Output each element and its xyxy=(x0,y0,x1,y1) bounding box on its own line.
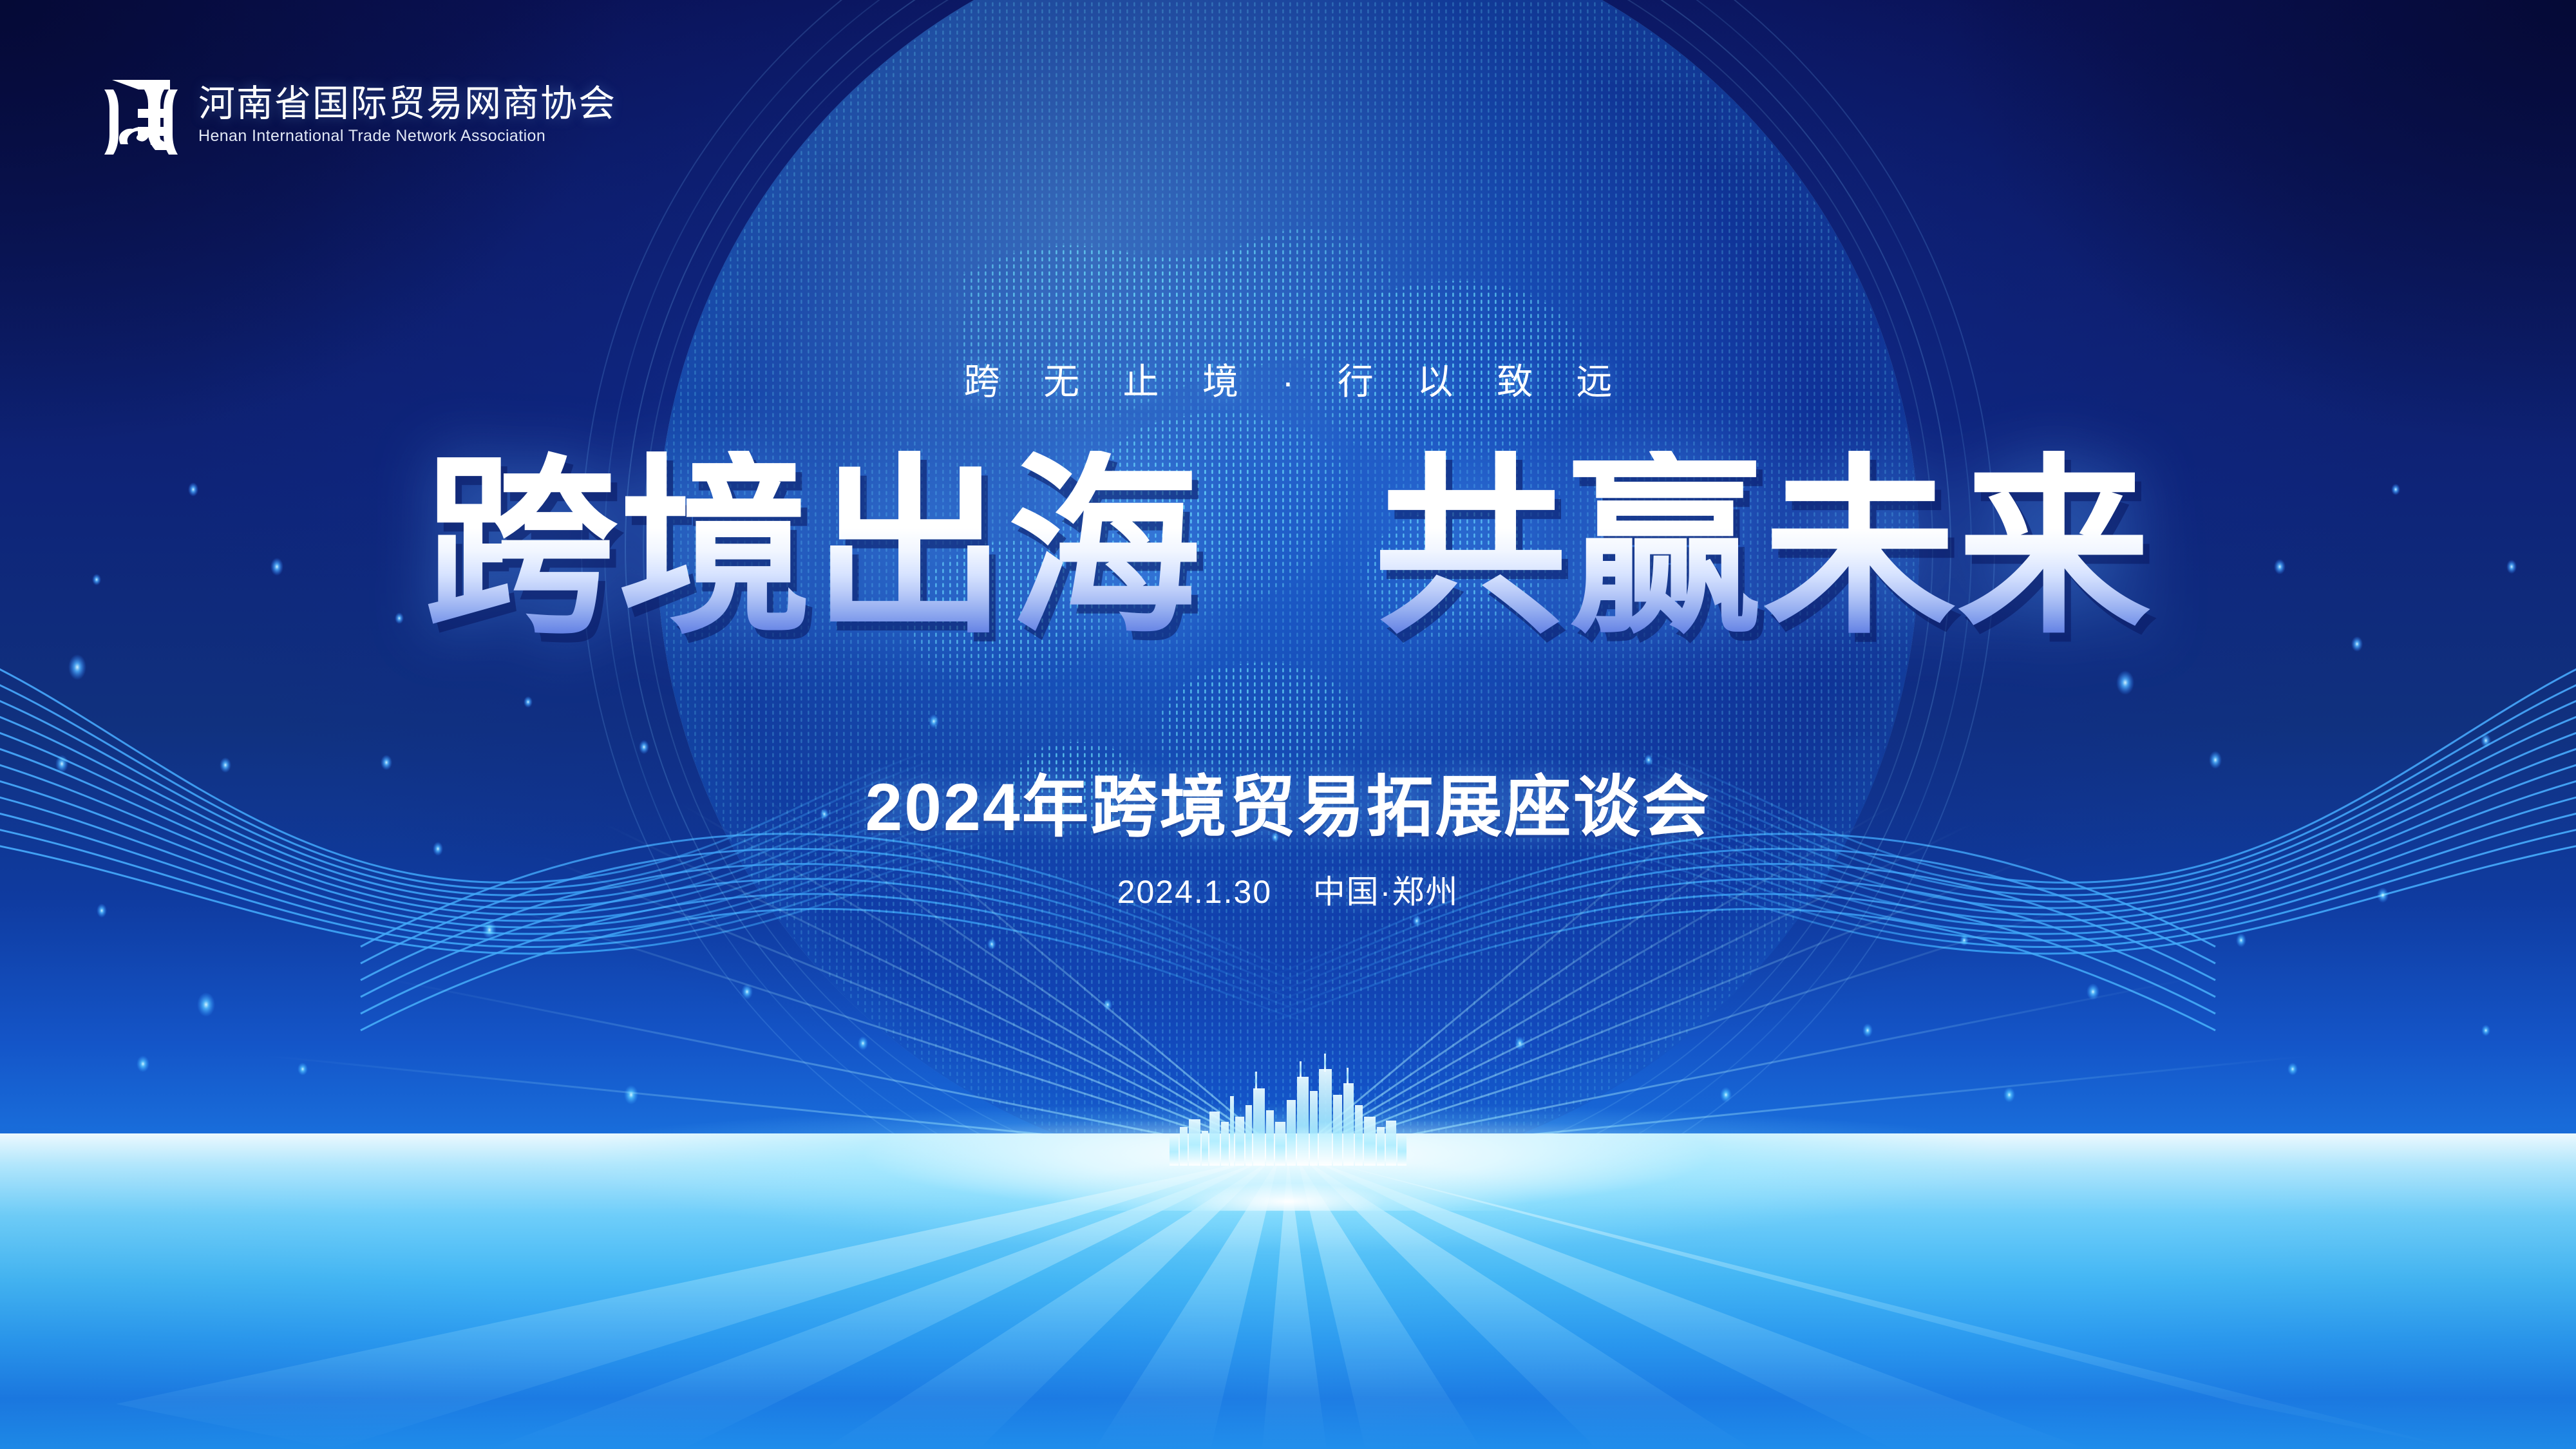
association-logo[interactable]: 河南省国际贸易网商协会 Henan International Trade Ne… xyxy=(103,76,616,155)
logo-english-name: Henan International Trade Network Associ… xyxy=(198,128,616,146)
logo-text-block: 河南省国际贸易网商协会 Henan International Trade Ne… xyxy=(198,85,616,145)
main-title-part-2: 共赢未来 xyxy=(1374,451,2152,644)
event-location: 中国·郑州 xyxy=(1313,874,1459,910)
event-subtitle: 2024年跨境贸易拓展座谈会 xyxy=(0,752,2576,849)
event-tagline: 跨 无 止 境 · 行 以 致 远 xyxy=(0,353,2576,405)
main-title: 跨境出海 共赢未来 xyxy=(0,451,2576,644)
event-date: 2024.1.30 xyxy=(1117,874,1272,910)
main-title-part-1: 跨境出海 xyxy=(424,451,1202,644)
event-date-location: 2024.1.30 中国·郑州 xyxy=(0,866,2576,913)
city-skyline-silhouette xyxy=(1166,1050,1410,1166)
logo-chinese-name: 河南省国际贸易网商协会 xyxy=(198,85,616,124)
event-banner: 河南省国际贸易网商协会 Henan International Trade Ne… xyxy=(0,0,2576,1449)
date-location-spacer xyxy=(1282,874,1303,910)
henan-trade-seal-emblem-icon xyxy=(103,76,179,155)
